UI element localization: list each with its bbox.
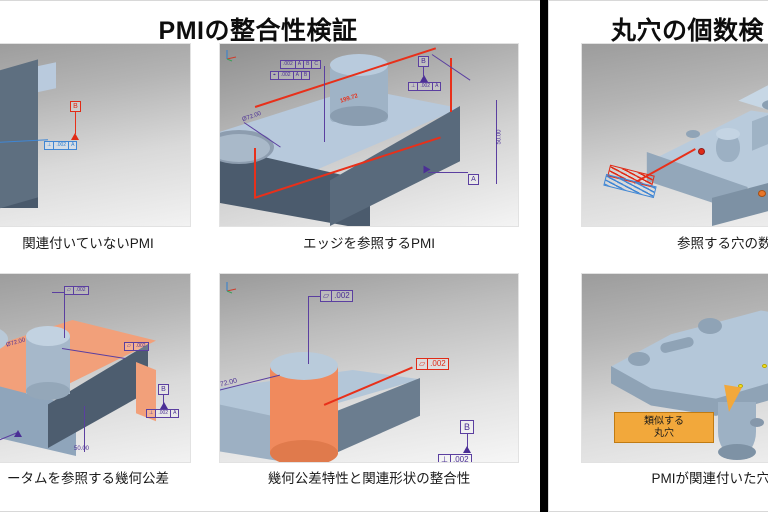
perpendicularity-frame-partial[interactable]: ⊥ .002: [438, 454, 472, 463]
pos-datum-c: C: [312, 61, 320, 68]
cad-boss-round-top: [716, 128, 740, 140]
fcf-tolerance: .002: [54, 142, 69, 149]
datum-b-triangle: [160, 402, 168, 409]
perp-symbol: ⊥: [147, 410, 156, 417]
pos-datum-a: A: [296, 61, 304, 68]
cad-hole-large-1: [698, 318, 722, 334]
perp-datum-a: A: [171, 410, 178, 417]
dimension-value-height: 50.00: [497, 129, 503, 144]
flatness-leader-purple-h: [308, 296, 321, 297]
cad-block-side: [0, 59, 38, 210]
flatness-frame-purple[interactable]: ▱ .002: [320, 290, 353, 302]
datum-label-b[interactable]: B: [460, 420, 474, 434]
dimension-value-height: 50.00: [74, 446, 89, 452]
flatness-tolerance-2: .002: [134, 343, 148, 350]
perp-symbol: ⊥: [439, 455, 451, 463]
caption-top-middle: エッジを参照するPMI: [219, 232, 519, 252]
pos-datum-a2: A: [294, 72, 302, 79]
perp-symbol: ⊥: [409, 83, 418, 90]
datum-b-triangle: [463, 446, 471, 453]
slide-right: 丸穴の個数検: [548, 0, 768, 512]
figure-bottom-middle[interactable]: ▱ .002 ▱ .002 B ⊥ .002 172.00: [219, 273, 519, 463]
pos-symbol: ⌖: [271, 72, 279, 79]
pos-datum-b2: B: [302, 72, 309, 79]
slide-divider: [540, 0, 548, 512]
caption-top-left: 関連付いていないPMI: [0, 232, 191, 252]
pos-datum-b: B: [304, 61, 312, 68]
flatness-frame-top[interactable]: ▱ .002: [64, 286, 89, 295]
datum-a-leader: [428, 172, 468, 173]
datum-label-b[interactable]: B: [70, 101, 81, 112]
flatness-leader-purple-v: [308, 296, 309, 364]
figure-top-left[interactable]: B ⊥ .002 A: [0, 43, 191, 227]
flatness-frame-red[interactable]: ▱ .002: [416, 358, 449, 370]
dimension-extension-left: [254, 148, 256, 198]
pos-tolerance-1: .002: [281, 61, 296, 68]
fcf-datum-a: A: [69, 142, 76, 149]
datum-a-triangle: [424, 166, 431, 174]
perp-datum-a: A: [433, 83, 440, 90]
caption-bottom-left: ータムを参照する幾何公差: [0, 467, 191, 487]
flatness-symbol-2: ▱: [125, 343, 134, 350]
flatness-tolerance-2: .002: [428, 359, 448, 369]
slide-left: PMIの整合性検証 B ⊥ .002 A 関連付いていないPMI: [0, 0, 542, 512]
cad-hole-small-a: [750, 418, 764, 427]
datum-label-b[interactable]: B: [418, 56, 429, 67]
flatness-symbol-1: ▱: [65, 287, 74, 294]
cad-hole-large-2: [628, 352, 650, 366]
axis-triad-icon: [224, 48, 238, 62]
flatness-symbol-1: ▱: [321, 291, 332, 301]
position-frame-lower[interactable]: ⌖ .002 A B: [270, 71, 310, 80]
highlighted-hole-1[interactable]: [762, 364, 767, 368]
figure-right-top[interactable]: [581, 43, 768, 227]
cad-bracket-leg-shade: [718, 444, 756, 460]
caption-right-bottom: PMIが関連付いた穴と類似: [581, 467, 768, 487]
datum-label-b[interactable]: B: [158, 384, 169, 395]
pos-tolerance-2: .002: [279, 72, 294, 79]
feature-control-frame[interactable]: ⊥ .002 A: [44, 141, 77, 150]
slide-pair-root: PMIの整合性検証 B ⊥ .002 A 関連付いていないPMI: [0, 0, 768, 512]
cad-cylinder-highlight-top: [270, 352, 338, 380]
flatness-frame-side[interactable]: ▱ .002: [124, 342, 149, 351]
datum-triangle: [71, 133, 79, 140]
flatness-tolerance-1: .002: [332, 291, 352, 301]
perp-tolerance: .002: [156, 410, 171, 417]
pmi-anchor-dot[interactable]: [698, 148, 705, 155]
perpendicularity-frame[interactable]: ⊥ .002 A: [408, 82, 441, 91]
page-title-right: 丸穴の個数検: [549, 11, 768, 45]
perp-tolerance: .002: [418, 83, 433, 90]
datum-b-triangle: [420, 75, 428, 82]
perp-tolerance: .002: [451, 455, 471, 463]
caption-bottom-middle: 幾何公差特性と関連形状の整合性: [219, 467, 519, 487]
flatness-tolerance-1: .002: [74, 287, 88, 294]
position-frame-leader: [324, 66, 325, 142]
figure-bottom-left[interactable]: ▱ .002 ▱ .002 B ⊥ .002 A A: [0, 273, 191, 463]
figure-top-middle[interactable]: 199.72 50.00 Ø72.00 .002 A B C ⌖ .002 A …: [219, 43, 519, 227]
cad-hole-small-2: [686, 130, 700, 138]
fcf-symbol: ⊥: [45, 142, 54, 149]
perpendicularity-frame[interactable]: ⊥ .002 A: [146, 409, 179, 418]
pmi-anchor-dot-2[interactable]: [758, 190, 766, 197]
flatness-leader-top: [64, 292, 65, 338]
flatness-leader-top2: [52, 292, 65, 293]
datum-a-triangle: [14, 430, 22, 437]
axis-triad-icon: [224, 280, 238, 294]
position-frame-upper[interactable]: .002 A B C: [280, 60, 321, 69]
datum-label-a[interactable]: A: [468, 174, 479, 185]
page-title-left: PMIの整合性検証: [0, 11, 541, 45]
cad-boss-bottom: [26, 382, 70, 400]
cad-cylinder-highlight-bottom: [270, 440, 338, 463]
datum-leader-line: [75, 112, 76, 134]
caption-right-top: 参照する穴の数の: [581, 232, 768, 252]
flatness-symbol-2: ▱: [417, 359, 428, 369]
callout-similar-holes[interactable]: 類似する 丸穴: [614, 412, 714, 443]
figure-right-bottom[interactable]: 類似する 丸穴: [581, 273, 768, 463]
cad-boss-shade: [330, 106, 388, 126]
